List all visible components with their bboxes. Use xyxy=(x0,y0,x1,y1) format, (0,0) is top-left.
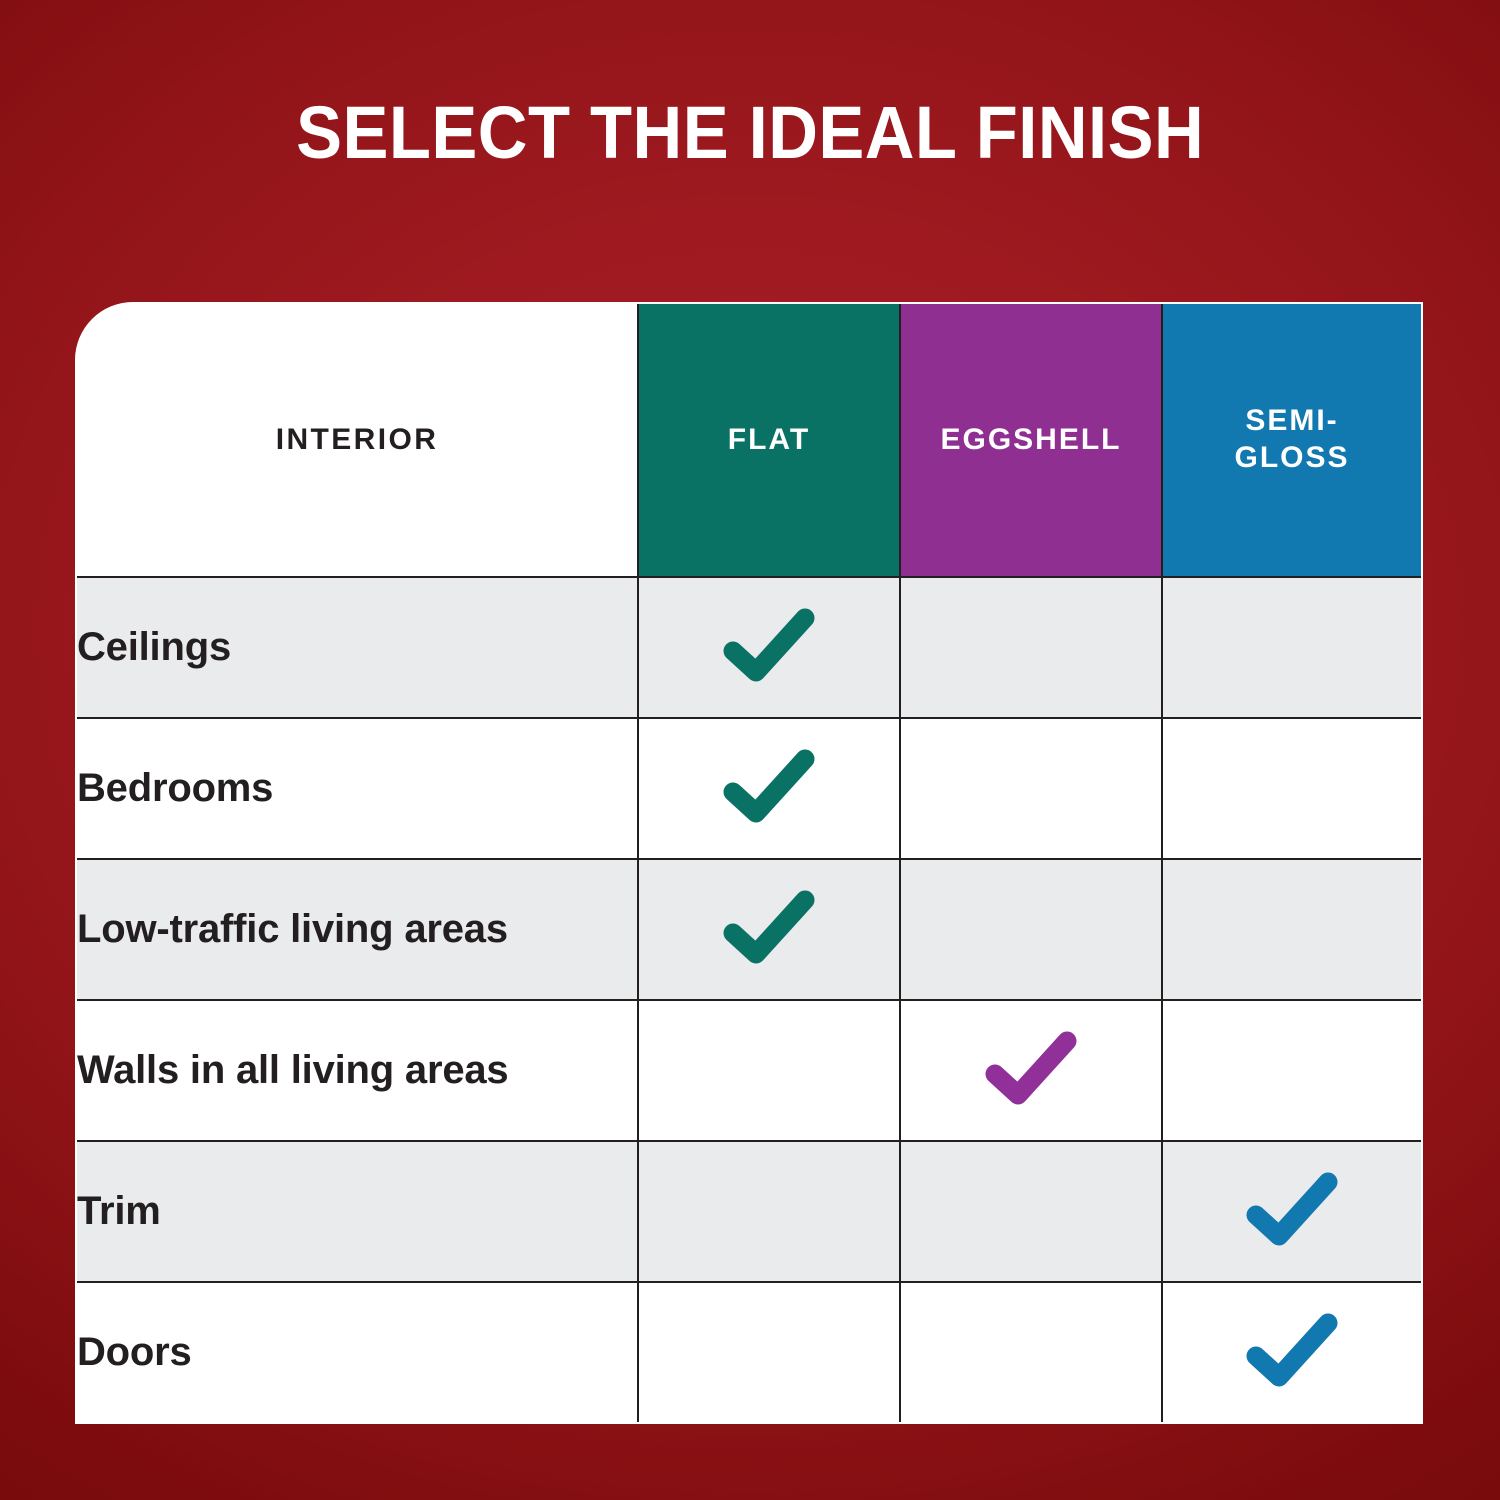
row-label-ceilings: Ceilings xyxy=(76,577,638,718)
cell-bedrooms-semigloss xyxy=(1162,718,1422,859)
column-header-eggshell: EGGSHELL xyxy=(900,303,1162,577)
cell-walls-in-all-living-areas-flat xyxy=(638,1000,900,1141)
cell-doors-eggshell xyxy=(900,1282,1162,1423)
checkmark-icon xyxy=(1244,1170,1340,1248)
cell-trim-flat xyxy=(638,1141,900,1282)
page-title: SELECT THE IDEAL FINISH xyxy=(296,96,1204,170)
column-header-interior: INTERIOR xyxy=(76,303,638,577)
column-header-flat: FLAT xyxy=(638,303,900,577)
cell-trim-semigloss xyxy=(1162,1141,1422,1282)
cell-low-traffic-living-areas-flat xyxy=(638,859,900,1000)
table-row: Low-traffic living areas xyxy=(76,859,1422,1000)
cell-doors-semigloss xyxy=(1162,1282,1422,1423)
cell-trim-eggshell xyxy=(900,1141,1162,1282)
row-label-doors: Doors xyxy=(76,1282,638,1423)
checkmark-icon xyxy=(721,747,817,825)
cell-low-traffic-living-areas-semigloss xyxy=(1162,859,1422,1000)
table-body: Ceilings Bedrooms xyxy=(76,577,1422,1423)
title-bar: SELECT THE IDEAL FINISH xyxy=(0,96,1500,170)
finish-comparison-table: INTERIOR FLAT EGGSHELL SEMI- GLOSS Ceili… xyxy=(75,302,1423,1424)
row-label-trim: Trim xyxy=(76,1141,638,1282)
checkmark-icon xyxy=(721,888,817,966)
row-label-low-traffic-living-areas: Low-traffic living areas xyxy=(76,859,638,1000)
cell-walls-in-all-living-areas-semigloss xyxy=(1162,1000,1422,1141)
cell-low-traffic-living-areas-eggshell xyxy=(900,859,1162,1000)
row-label-walls-in-all-living-areas: Walls in all living areas xyxy=(76,1000,638,1141)
column-header-semigloss: SEMI- GLOSS xyxy=(1162,303,1422,577)
table-row: Walls in all living areas xyxy=(76,1000,1422,1141)
table-row: Bedrooms xyxy=(76,718,1422,859)
checkmark-icon xyxy=(983,1029,1079,1107)
table-row: Ceilings xyxy=(76,577,1422,718)
cell-bedrooms-eggshell xyxy=(900,718,1162,859)
column-header-semigloss-line2: GLOSS xyxy=(1234,441,1349,474)
cell-doors-flat xyxy=(638,1282,900,1423)
table-row: Doors xyxy=(76,1282,1422,1423)
cell-walls-in-all-living-areas-eggshell xyxy=(900,1000,1162,1141)
row-label-bedrooms: Bedrooms xyxy=(76,718,638,859)
header-row: INTERIOR FLAT EGGSHELL SEMI- GLOSS xyxy=(76,303,1422,577)
table-row: Trim xyxy=(76,1141,1422,1282)
checkmark-icon xyxy=(721,606,817,684)
checkmark-icon xyxy=(1244,1311,1340,1389)
table-header: INTERIOR FLAT EGGSHELL SEMI- GLOSS xyxy=(76,303,1422,577)
cell-bedrooms-flat xyxy=(638,718,900,859)
cell-ceilings-flat xyxy=(638,577,900,718)
column-header-semigloss-line1: SEMI- xyxy=(1245,404,1338,437)
cell-ceilings-semigloss xyxy=(1162,577,1422,718)
cell-ceilings-eggshell xyxy=(900,577,1162,718)
